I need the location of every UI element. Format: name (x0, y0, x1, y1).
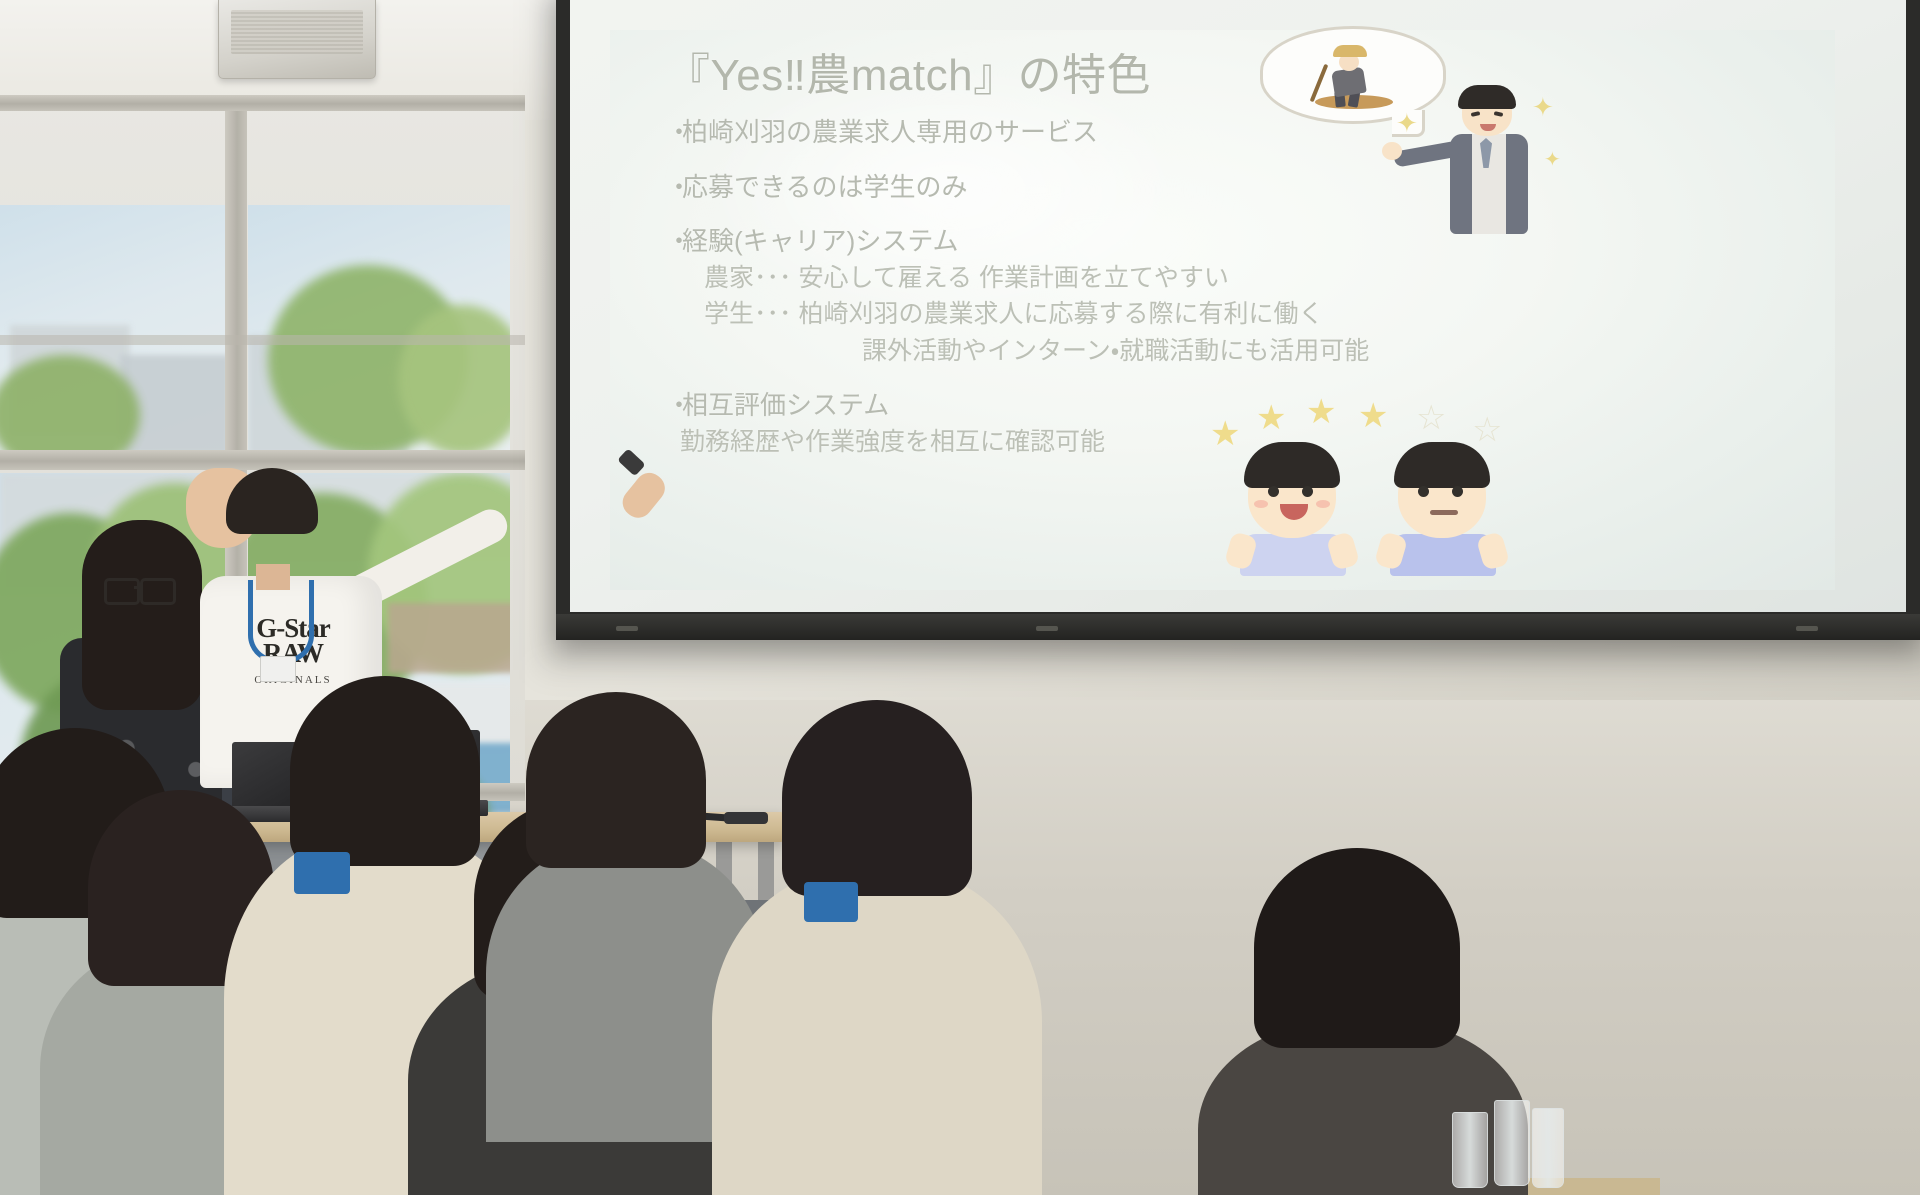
eyeglasses-bridge (134, 586, 142, 589)
slide-subline-extracurricular: 課外活動やインターン・就職活動にも活用可能 (666, 335, 1826, 368)
mutual-rating-faces-illustration (1230, 430, 1530, 575)
eyeglasses-icon (140, 578, 176, 605)
window-mullion-horizontal (0, 450, 525, 470)
slide-bullet-4-text: 相互評価システム (682, 390, 889, 420)
student-neck (256, 564, 290, 590)
drinking-glass (1494, 1100, 1530, 1186)
whiteboard: 『Yes‼農match』の特色 ・柏崎刈羽の農業求人専用のサービス ・応募できる… (556, 0, 1920, 640)
slide-bullet-1: ・柏崎刈羽の農業求人専用のサービス (666, 116, 1826, 149)
whiteboard-tray (556, 614, 1920, 640)
drinking-glass (1532, 1108, 1564, 1188)
drinking-glass (1452, 1112, 1488, 1188)
slide-subline-farmer: 農家･･･ 安心して雇える 作業計画を立てやすい (666, 262, 1826, 295)
bullet-marker: ・ (666, 171, 682, 204)
slide-bullet-2: ・応募できるのは学生のみ (666, 171, 1826, 204)
pointing-businessman-icon: ✦ ✦ ✦ (1410, 88, 1560, 248)
window-pane-top-left (0, 205, 225, 455)
girl-hair (82, 520, 202, 710)
slide-bullet-3-text: 経験(キャリア)システム (682, 226, 959, 256)
slide-bullet-1-text: 柏崎刈羽の農業求人専用のサービス (682, 117, 1098, 147)
bullet-marker: ・ (666, 389, 682, 422)
window-header-rail (0, 95, 525, 111)
screenshot-root: 『Yes‼農match』の特色 ・柏崎刈羽の農業求人専用のサービス ・応募できる… (0, 0, 1920, 1195)
neutral-face-icon (1380, 442, 1506, 574)
slide-title: 『Yes‼農match』の特色 (666, 52, 1826, 100)
whiteboard-surface: 『Yes‼農match』の特色 ・柏崎刈羽の農業求人専用のサービス ・応募できる… (570, 0, 1906, 612)
slide-subline-student: 学生･･･ 柏崎刈羽の農業求人に応募する際に有利に働く (666, 298, 1826, 331)
audience-lanyard (804, 882, 858, 922)
farmer-with-hoe-icon (1315, 45, 1393, 107)
window-pane-top-right (248, 205, 510, 455)
slide-bullet-2-text: 応募できるのは学生のみ (682, 172, 967, 202)
bullet-marker: ・ (666, 225, 682, 258)
audience-lanyard (294, 852, 350, 894)
slide-group-experience: ・経験(キャリア)システム 農家･･･ 安心して雇える 作業計画を立てやすい 学… (666, 225, 1826, 367)
audience-member (756, 700, 1006, 1195)
window-rail (0, 335, 525, 345)
smiling-face-icon (1230, 442, 1356, 574)
ceiling-speaker-icon (218, 0, 376, 79)
eyeglasses-icon (104, 578, 140, 605)
farmer-illustration: ✦ ✦ ✦ (1260, 18, 1560, 248)
lanyard (248, 580, 314, 663)
bullet-marker: ・ (666, 116, 682, 149)
audience-member (512, 692, 732, 1072)
slide-bullet-3: ・経験(キャリア)システム (666, 225, 1826, 258)
